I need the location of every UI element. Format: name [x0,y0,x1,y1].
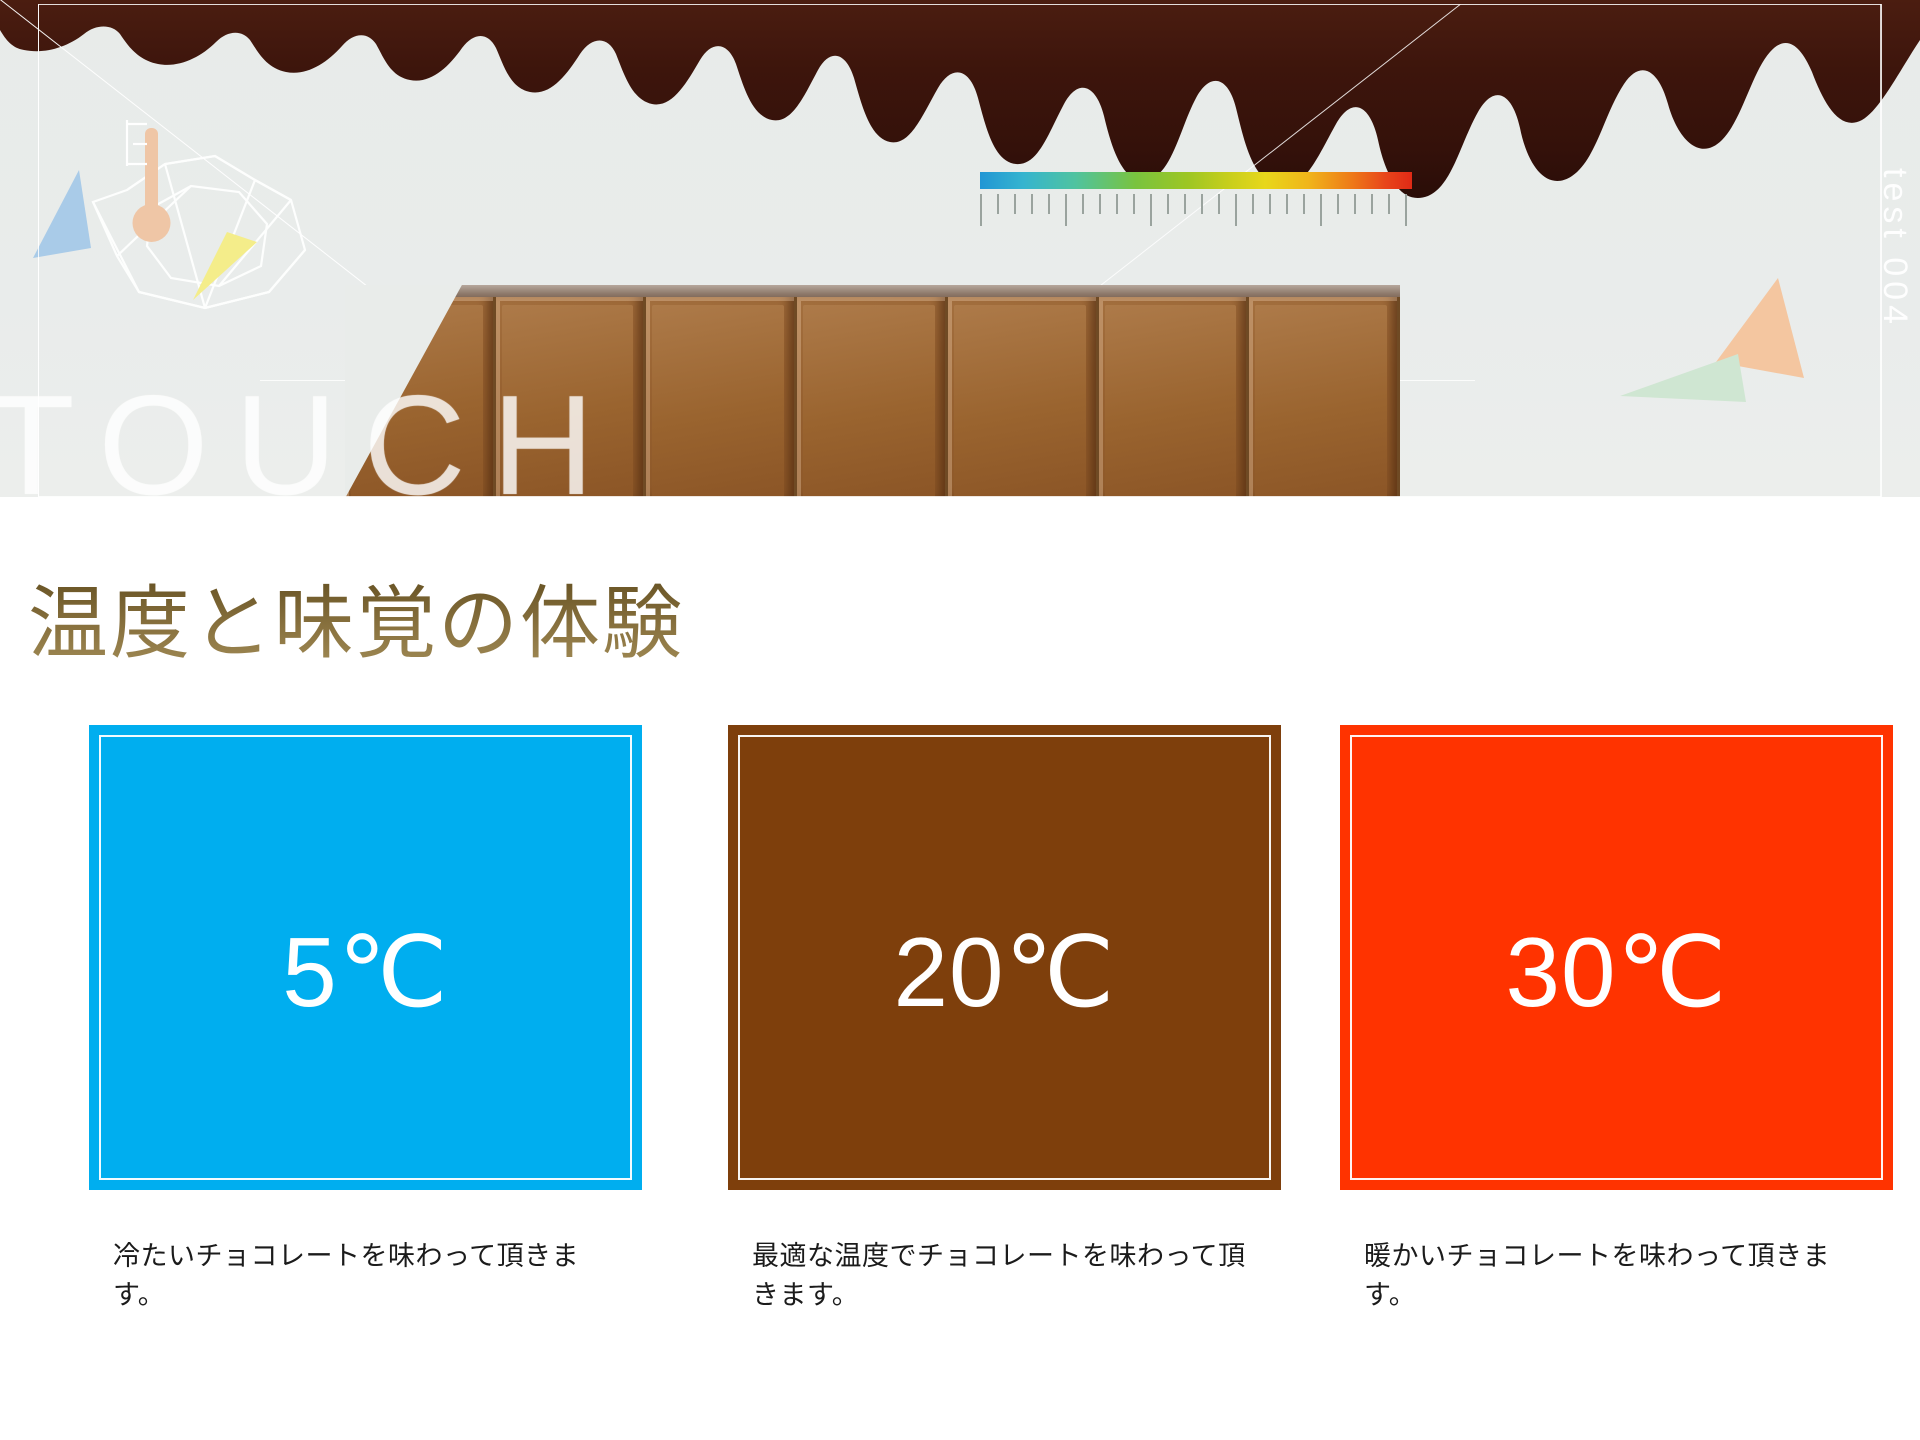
color-swatch-cold: 5℃ [89,725,642,1190]
temperature-label-optimal: 20℃ [893,923,1115,1021]
chocolate-square [646,297,797,497]
color-swatch-optimal: 20℃ [728,725,1281,1190]
hero-side-code: test 004 [1875,168,1914,329]
chocolate-square [1099,297,1250,497]
card-caption-cold: 冷たいチョコレートを味わって頂きます。 [113,1237,613,1315]
temperature-label-cold: 5℃ [282,923,449,1021]
card-caption-warm: 暖かいチョコレートを味わって頂きます。 [1364,1237,1864,1315]
temperature-card-cold[interactable]: 5℃ [89,725,642,1190]
temperature-cards: 5℃ 20℃ 30℃ 冷たいチョコレートを味わって頂きます。 最適な温度でチョコ… [0,725,1920,1245]
decorative-triangle-mint [1620,340,1750,410]
hero-wordmark: TOUCH [0,375,620,497]
chocolate-square [948,297,1099,497]
ruler-ticks [980,194,1412,228]
card-caption-optimal: 最適な温度でチョコレートを味わって頂きます。 [752,1237,1252,1315]
decorative-triangle-blue [33,170,93,260]
color-scale-ruler [980,172,1412,232]
temperature-card-warm[interactable]: 30℃ [1340,725,1893,1190]
chocolate-square [1249,297,1400,497]
thermometer-icon [55,60,375,360]
temperature-card-optimal[interactable]: 20℃ [728,725,1281,1190]
temperature-label-warm: 30℃ [1505,923,1727,1021]
chocolate-square [797,297,948,497]
color-swatch-warm: 30℃ [1340,725,1893,1190]
decorative-triangle-yellow [185,230,265,310]
hero-banner: TOUCH test 004 [0,0,1920,497]
page-title: 温度と味覚の体験 [28,582,684,668]
ruler-gradient-bar [980,172,1412,189]
